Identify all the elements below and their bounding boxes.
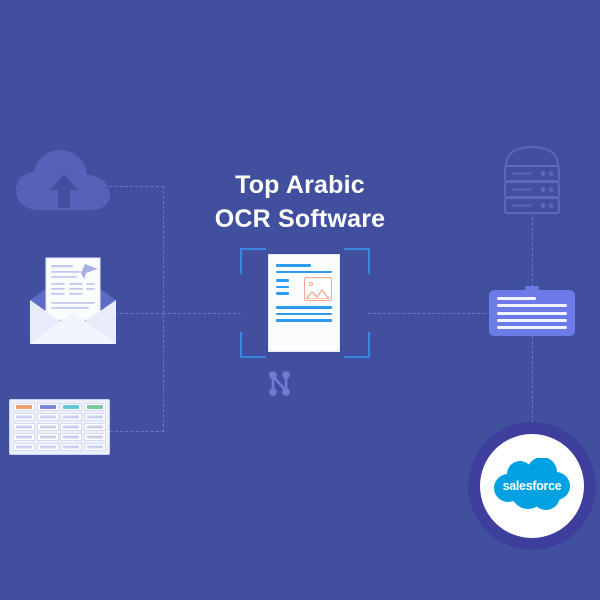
- page-title: Top Arabic OCR Software: [180, 168, 420, 236]
- table-cell: [60, 423, 82, 431]
- document-text-line: [276, 319, 332, 322]
- table-cell: [13, 413, 35, 421]
- table-cell: [84, 423, 106, 431]
- card-text-line: [497, 319, 567, 322]
- table-cell: [13, 443, 35, 451]
- table-row: [13, 413, 106, 421]
- table-cell: [37, 423, 59, 431]
- mountain-icon: [306, 288, 329, 299]
- sun-icon: [309, 282, 313, 286]
- title-line-2: OCR Software: [180, 202, 420, 236]
- document-text-line: [276, 286, 289, 289]
- title-line-1: Top Arabic: [180, 168, 420, 202]
- salesforce-wordmark: salesforce: [490, 458, 574, 514]
- table-cell: [84, 413, 106, 421]
- card-text-line: [497, 312, 567, 315]
- network-node-icon: [266, 370, 296, 398]
- document-text-line: [276, 313, 332, 316]
- scan-bracket-bottom-right: [344, 332, 370, 358]
- connector-left-spine: [163, 186, 164, 432]
- table-header-cell: [84, 403, 106, 411]
- connector-table-to-spine: [110, 431, 164, 432]
- open-envelope-icon: [24, 256, 122, 348]
- table-row: [13, 433, 106, 441]
- table-row: [13, 443, 106, 451]
- connector-spine-to-scan: [163, 313, 241, 314]
- table-header-cell: [13, 403, 35, 411]
- table-cell: [60, 413, 82, 421]
- table-header-cell: [60, 403, 82, 411]
- document-mid-lines: [276, 277, 300, 301]
- table-cell: [37, 433, 59, 441]
- document-text-line: [276, 264, 311, 267]
- connector-card-to-salesforce: [532, 336, 533, 428]
- scan-bracket-top-left: [240, 248, 266, 274]
- table-cell: [84, 433, 106, 441]
- card-text-line: [497, 297, 536, 300]
- salesforce-cloud-icon: salesforce: [490, 458, 574, 514]
- table-cell: [84, 443, 106, 451]
- table-cell: [37, 443, 59, 451]
- infographic-canvas: Top Arabic OCR Software: [0, 0, 600, 600]
- document-text-line: [276, 271, 332, 274]
- connector-scan-to-card: [368, 313, 490, 314]
- document-mid-row: [276, 277, 332, 301]
- table-icon: [9, 399, 110, 455]
- scan-document-icon: [240, 248, 370, 358]
- document-text-line: [276, 306, 332, 309]
- table-header-cell: [37, 403, 59, 411]
- card-text-line: [497, 326, 567, 329]
- table-cell: [13, 433, 35, 441]
- table-row: [13, 423, 106, 431]
- table-cell: [60, 433, 82, 441]
- image-placeholder-icon: [304, 277, 332, 301]
- scan-bracket-top-right: [344, 248, 370, 274]
- card-text-line: [497, 304, 567, 307]
- table-cell: [13, 423, 35, 431]
- cloud-upload-icon: [14, 148, 116, 214]
- scan-bracket-bottom-left: [240, 332, 266, 358]
- text-card-icon: [489, 290, 575, 336]
- document-text-line: [276, 279, 289, 282]
- scanned-document: [268, 254, 340, 352]
- table-header-row: [13, 403, 106, 411]
- connector-server-to-card: [532, 212, 533, 292]
- table-cell: [60, 443, 82, 451]
- card-tab: [525, 286, 539, 291]
- salesforce-destination: salesforce: [468, 422, 596, 550]
- table-cell: [37, 413, 59, 421]
- server-rack-icon: [501, 144, 563, 214]
- document-text-line: [276, 292, 289, 295]
